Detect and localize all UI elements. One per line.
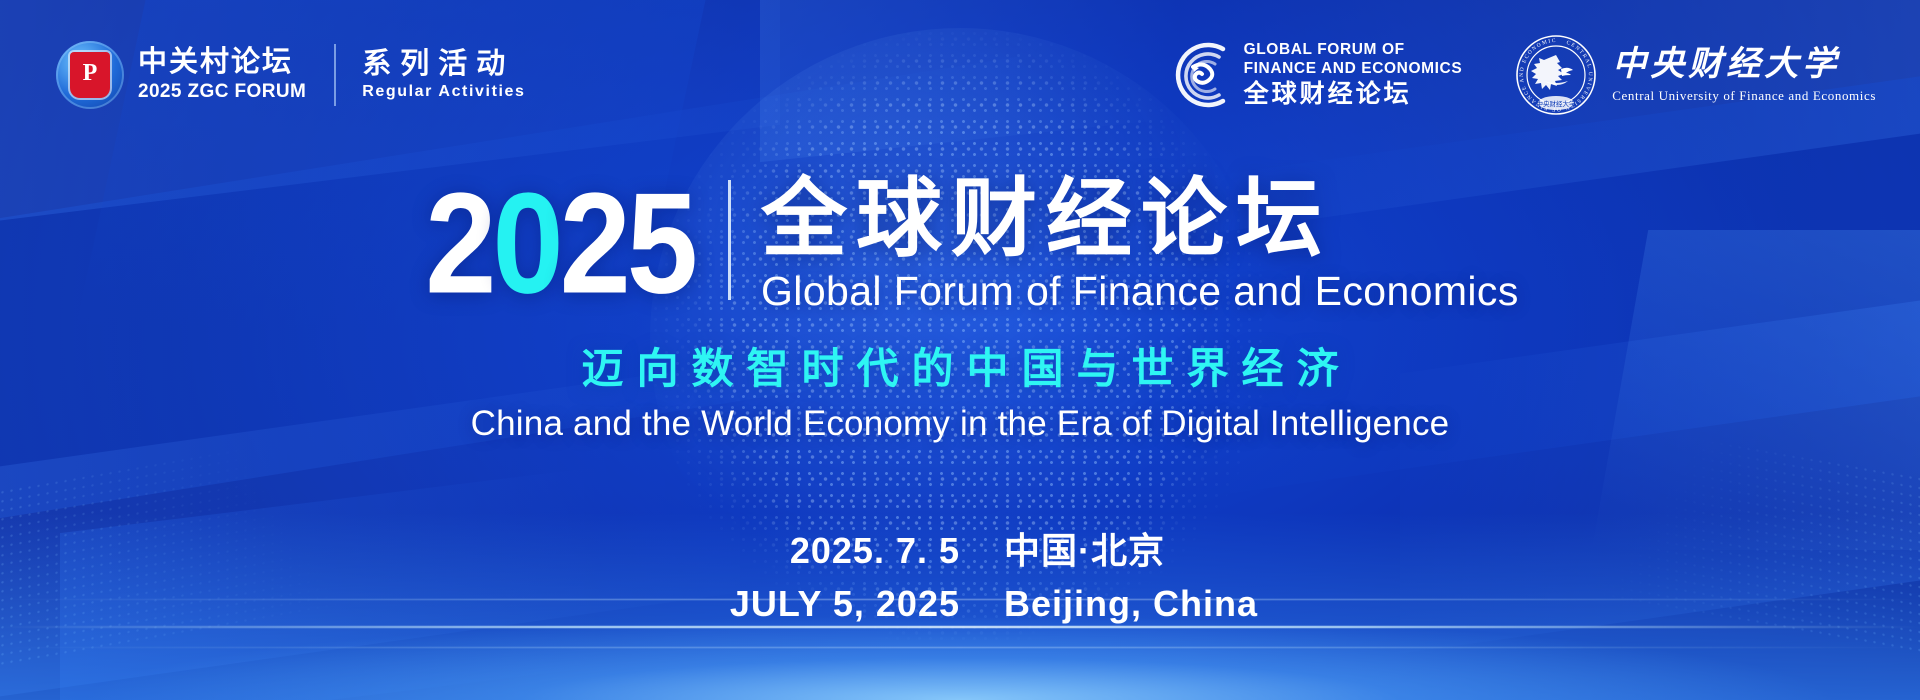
series-label-en: Regular Activities bbox=[362, 83, 525, 101]
series-label-block: 系列活动 Regular Activities bbox=[362, 49, 525, 101]
gffe-name-en-line2: FINANCE AND ECONOMICS bbox=[1244, 60, 1463, 79]
gffe-swirl-icon bbox=[1163, 39, 1235, 111]
main-title-block: 2025 全球财经论坛 Global Forum of Finance and … bbox=[0, 176, 1920, 444]
series-label-cn: 系列活动 bbox=[362, 49, 525, 79]
zgc-emblem-icon: P bbox=[56, 41, 124, 109]
title-row: 2025 全球财经论坛 Global Forum of Finance and … bbox=[0, 176, 1920, 315]
gffe-name-cn: 全球财经论坛 bbox=[1244, 81, 1463, 109]
event-datetime-columns: 2025. 7. 5 中国·北京 JULY 5, 2025 Beijing, C… bbox=[660, 522, 1260, 625]
event-line-cn: 2025. 7. 5 中国·北京 bbox=[660, 522, 1260, 574]
year-accent-zero: 0 bbox=[492, 164, 559, 324]
cufe-name-cn: 中央财经大学 bbox=[1612, 46, 1876, 83]
title-separator bbox=[728, 180, 731, 300]
header-logo-bar: P 中关村论坛 2025 ZGC FORUM 系列活动 Regular Acti… bbox=[0, 0, 1920, 150]
partner-logos: GLOBAL FORUM OF FINANCE AND ECONOMICS 全球… bbox=[1163, 33, 1876, 117]
header-divider bbox=[334, 44, 336, 106]
global-forum-logo: GLOBAL FORUM OF FINANCE AND ECONOMICS 全球… bbox=[1163, 39, 1463, 111]
event-datetime-block: 2025. 7. 5 中国·北京 JULY 5, 2025 Beijing, C… bbox=[0, 522, 1920, 625]
event-line-en: JULY 5, 2025 Beijing, China bbox=[660, 583, 1260, 625]
event-date-en: JULY 5, 2025 bbox=[660, 583, 960, 625]
event-date-cn: 2025. 7. 5 bbox=[660, 530, 960, 572]
zgc-name-en: 2025 ZGC FORUM bbox=[138, 81, 306, 103]
forum-subtitle-en: China and the World Economy in the Era o… bbox=[0, 404, 1920, 444]
forum-title-en: Global Forum of Finance and Economics bbox=[761, 268, 1519, 315]
cufe-logo-text: 中央财经大学 Central University of Finance and… bbox=[1612, 46, 1876, 103]
year-part-1: 2 bbox=[425, 164, 492, 324]
forum-title-cn: 全球财经论坛 bbox=[761, 176, 1519, 264]
zgc-emblem-letter: P bbox=[83, 61, 98, 85]
zgc-logo-text: 中关村论坛 2025 ZGC FORUM bbox=[138, 47, 306, 102]
gffe-logo-text: GLOBAL FORUM OF FINANCE AND ECONOMICS 全球… bbox=[1244, 41, 1463, 108]
event-banner: P 中关村论坛 2025 ZGC FORUM 系列活动 Regular Acti… bbox=[0, 0, 1920, 700]
cufe-seal-icon: CENTRAL UNIVERSITY OF FINANCE AND ECONOM… bbox=[1514, 33, 1598, 117]
zgc-emblem-shield: P bbox=[70, 52, 110, 98]
gffe-name-en-line1: GLOBAL FORUM OF bbox=[1244, 41, 1463, 60]
cufe-name-en: Central University of Finance and Econom… bbox=[1612, 88, 1876, 104]
title-text-group: 全球财经论坛 Global Forum of Finance and Econo… bbox=[761, 176, 1519, 315]
forum-subtitle-cn: 迈向数智时代的中国与世界经济 bbox=[0, 335, 1920, 396]
svg-text:中央财经大学: 中央财经大学 bbox=[1537, 99, 1577, 108]
zgc-forum-logo: P 中关村论坛 2025 ZGC FORUM bbox=[56, 41, 306, 109]
year-2025: 2025 bbox=[425, 176, 694, 314]
event-location-en: Beijing, China bbox=[960, 583, 1260, 625]
zgc-name-cn: 中关村论坛 bbox=[138, 47, 306, 77]
cufe-university-logo: CENTRAL UNIVERSITY OF FINANCE AND ECONOM… bbox=[1514, 33, 1876, 117]
event-location-cn: 中国·北京 bbox=[960, 522, 1260, 574]
year-part-2: 25 bbox=[560, 164, 694, 324]
